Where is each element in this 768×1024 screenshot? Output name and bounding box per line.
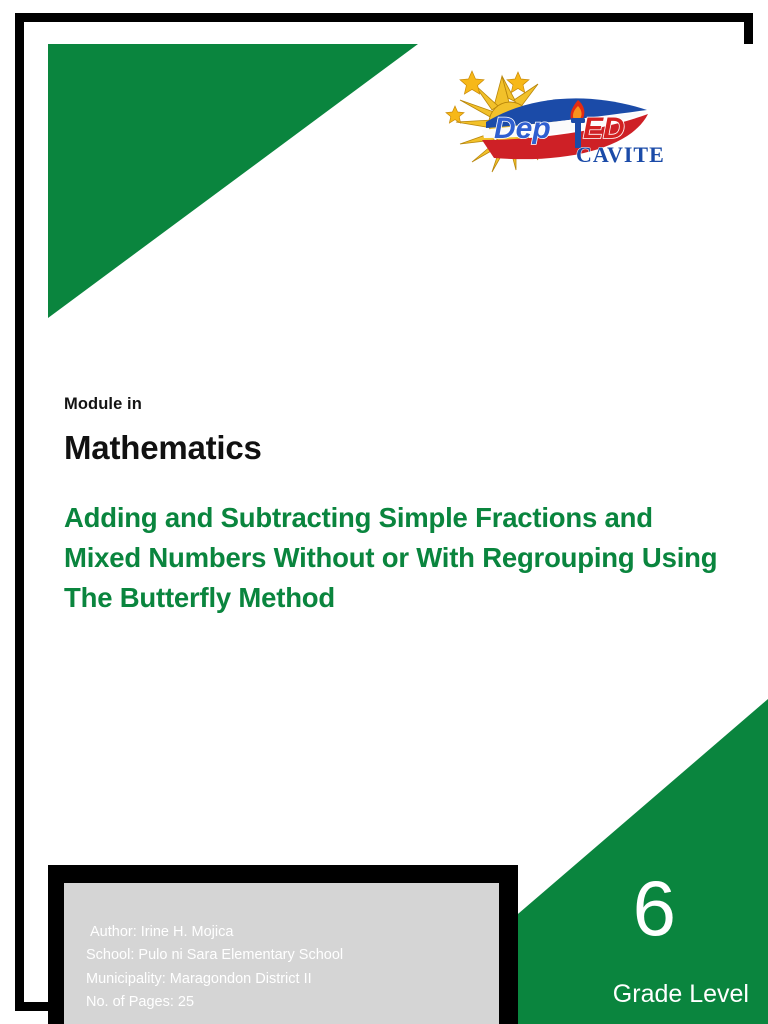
subject-title: Mathematics (64, 427, 724, 468)
author-info-band: Author: Irine H. Mojica School: Pulo ni … (48, 865, 518, 1024)
school-line: School: Pulo ni Sara Elementary School (86, 944, 343, 967)
author-line: Author: Irine H. Mojica (86, 921, 343, 944)
page-border-frame: Dep ED CAVITE Module in Mathematics Addi… (15, 13, 753, 1011)
svg-text:ED: ED (583, 112, 625, 145)
municipality-line: Municipality: Maragondon District II (86, 968, 343, 991)
grade-level-label: Grade Level (613, 979, 749, 1009)
author-info-lines: Author: Irine H. Mojica School: Pulo ni … (86, 921, 343, 1015)
grade-number: 6 (633, 869, 675, 947)
module-label: Module in (64, 395, 724, 415)
author-info-box: Author: Irine H. Mojica School: Pulo ni … (64, 883, 499, 1024)
module-title: Adding and Subtracting Simple Fractions … (64, 498, 724, 618)
pages-line: No. of Pages: 25 (86, 991, 343, 1014)
cover-text-block: Module in Mathematics Adding and Subtrac… (64, 395, 724, 618)
deped-cavite-logo: Dep ED CAVITE (442, 54, 664, 179)
svg-text:CAVITE: CAVITE (576, 142, 664, 167)
svg-text:Dep: Dep (494, 112, 551, 145)
top-left-green-triangle (48, 44, 418, 318)
document-cover-page: Dep ED CAVITE Module in Mathematics Addi… (0, 0, 768, 1024)
cover-canvas: Dep ED CAVITE Module in Mathematics Addi… (48, 44, 768, 1024)
